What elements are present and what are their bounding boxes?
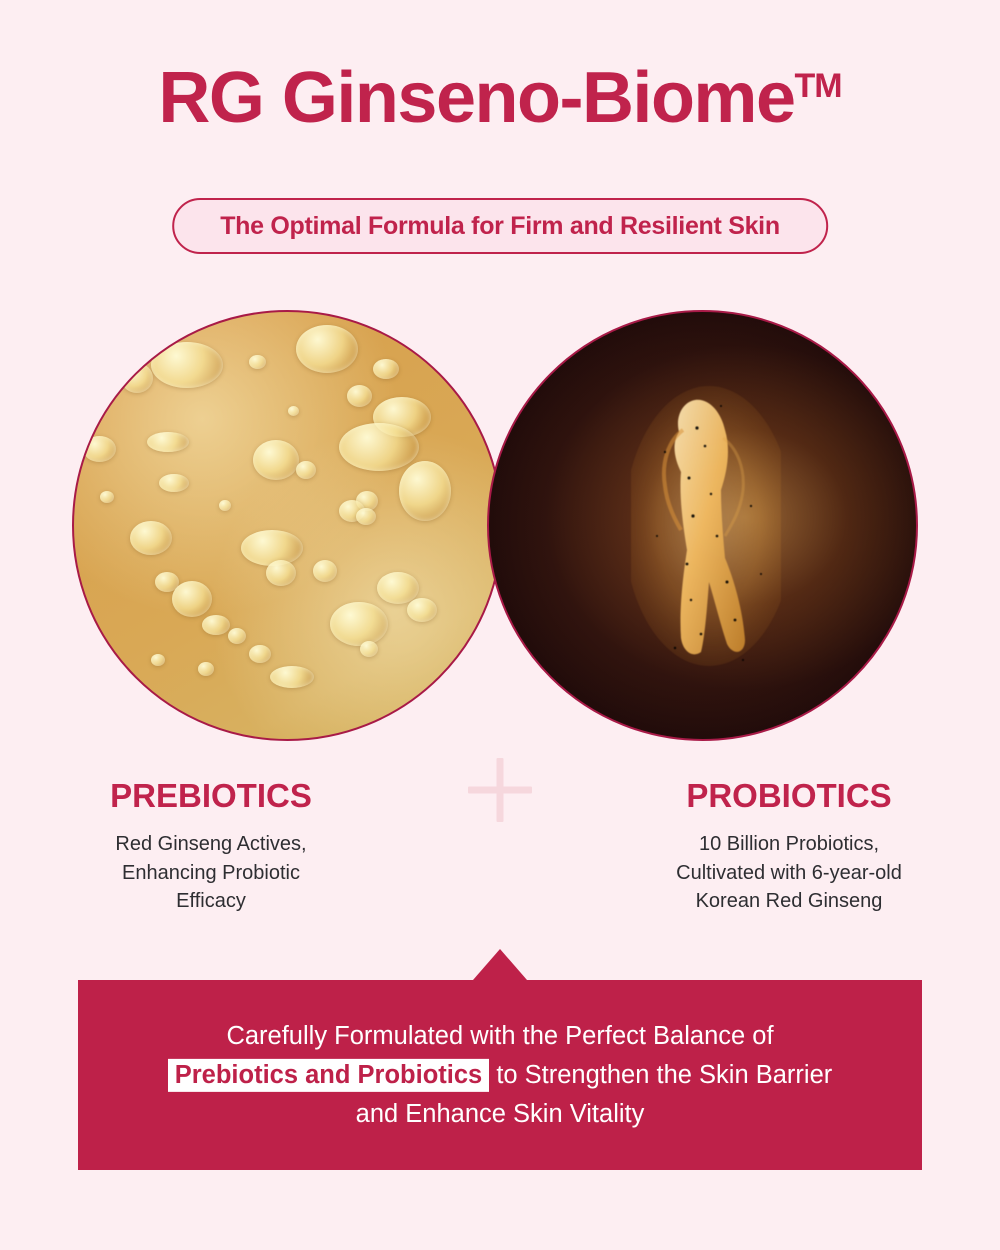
summary-banner: Carefully Formulated with the Perfect Ba… bbox=[78, 980, 922, 1170]
column-probiotics: PROBIOTICS 10 Billion Probiotics, Cultiv… bbox=[500, 778, 1000, 915]
product-ingredient-infographic: RG Ginseno-BiomeTM The Optimal Formula f… bbox=[0, 0, 1000, 1250]
subtitle-text: The Optimal Formula for Firm and Resilie… bbox=[220, 212, 780, 241]
page-title-area: RG Ginseno-BiomeTM bbox=[0, 62, 1000, 134]
banner-notch-arrow bbox=[473, 949, 527, 980]
probiotics-heading: PROBIOTICS bbox=[578, 778, 1000, 814]
banner-text: Carefully Formulated with the Perfect Ba… bbox=[78, 1017, 922, 1133]
probiotics-image bbox=[487, 310, 918, 741]
prebiotics-heading: PREBIOTICS bbox=[0, 778, 422, 814]
subtitle-pill: The Optimal Formula for Firm and Resilie… bbox=[172, 198, 828, 254]
probiotics-description-line-1: 10 Billion Probiotics, bbox=[578, 830, 1000, 858]
ingredient-images bbox=[0, 310, 1000, 745]
column-prebiotics: PREBIOTICS Red Ginseng Actives, Enhancin… bbox=[0, 778, 500, 915]
oil-bubble-texture bbox=[74, 312, 501, 739]
page-title-text: RG Ginseno-Biome bbox=[158, 58, 794, 138]
banner-line-1: Carefully Formulated with the Perfect Ba… bbox=[226, 1022, 773, 1050]
prebiotics-description-line-2: Enhancing Probiotic bbox=[0, 859, 422, 887]
banner-line-3: and Enhance Skin Vitality bbox=[356, 1099, 645, 1127]
probiotics-description-line-2: Cultivated with 6-year-old bbox=[578, 859, 1000, 887]
trademark-symbol: TM bbox=[794, 67, 841, 105]
prebiotics-description-line-1: Red Ginseng Actives, bbox=[0, 830, 422, 858]
prebiotics-image bbox=[72, 310, 503, 741]
ingredient-columns: PREBIOTICS Red Ginseng Actives, Enhancin… bbox=[0, 778, 1000, 915]
prebiotics-description-line-3: Efficacy bbox=[0, 887, 422, 915]
probiotics-description: 10 Billion Probiotics, Cultivated with 6… bbox=[578, 830, 1000, 915]
probiotics-description-line-3: Korean Red Ginseng bbox=[578, 887, 1000, 915]
ginseng-root-graphic bbox=[631, 386, 781, 666]
prebiotics-description: Red Ginseng Actives, Enhancing Probiotic… bbox=[0, 830, 422, 915]
banner-highlight: Prebiotics and Probiotics bbox=[168, 1059, 489, 1092]
page-title: RG Ginseno-BiomeTM bbox=[158, 62, 841, 134]
banner-line-2: to Strengthen the Skin Barrier bbox=[496, 1061, 832, 1089]
